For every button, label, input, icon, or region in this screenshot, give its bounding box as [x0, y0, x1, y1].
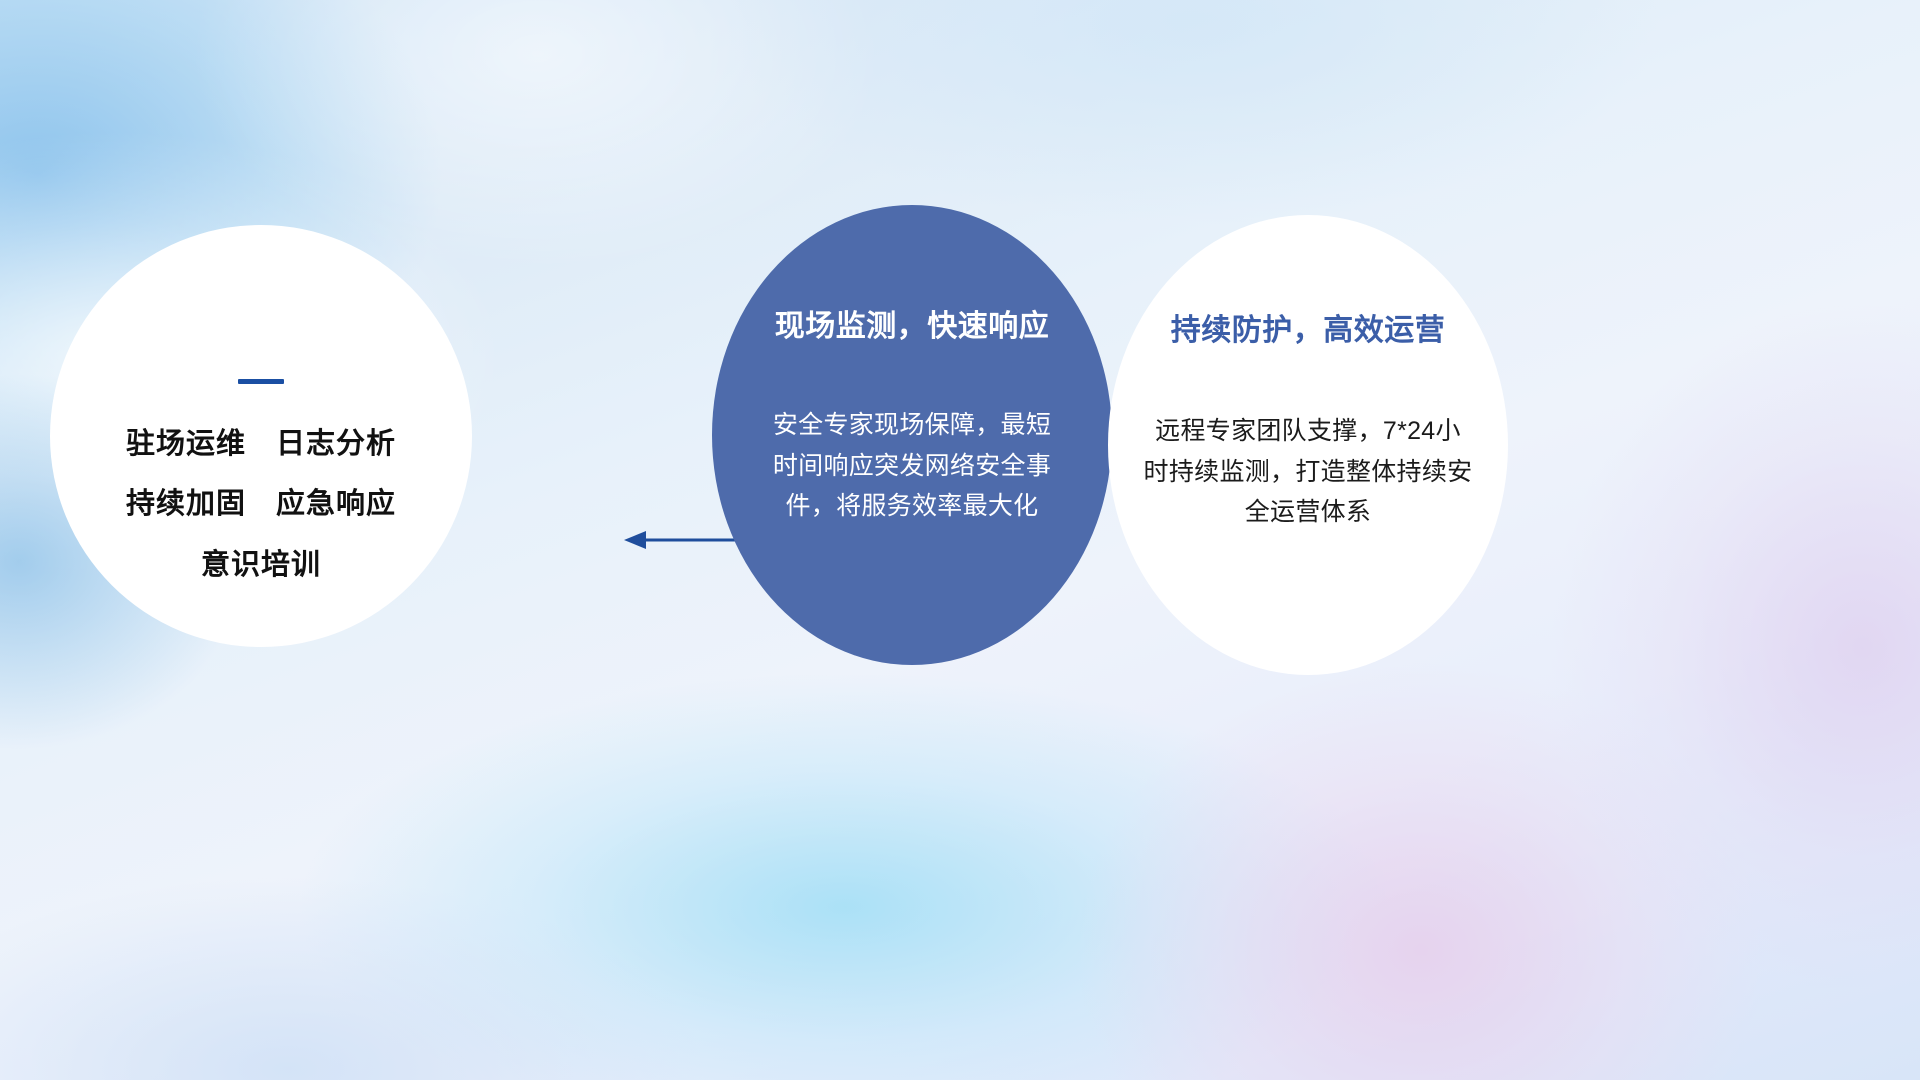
capability-line-2: 持续加固 应急响应: [126, 488, 396, 520]
onsite-monitoring-body: 安全专家现场保障，最短时间响应突发网络安全事件，将服务效率最大化: [762, 405, 1062, 527]
onsite-monitoring-title: 现场监测，快速响应: [775, 301, 1050, 345]
divider-dash-icon: [238, 379, 284, 384]
capability-line-3: 意识培训: [201, 549, 321, 581]
capability-line-1: 驻场运维 日志分析: [126, 428, 396, 460]
continuous-protection-body: 远程专家团队支撑，7*24小时持续监测，打造整体持续安全运营体系: [1143, 411, 1473, 533]
continuous-protection-circle[interactable]: 持续防护，高效运营 远程专家团队支撑，7*24小时持续监测，打造整体持续安全运营…: [1108, 215, 1508, 675]
slide-canvas: 驻场运维 日志分析 持续加固 应急响应 意识培训 现场监测，快速响应 安全专家现…: [0, 0, 1920, 1080]
continuous-protection-title: 持续防护，高效运营: [1171, 305, 1446, 349]
capability-circle-left[interactable]: 驻场运维 日志分析 持续加固 应急响应 意识培训: [50, 225, 472, 647]
onsite-monitoring-circle[interactable]: 现场监测，快速响应 安全专家现场保障，最短时间响应突发网络安全事件，将服务效率最…: [712, 205, 1112, 665]
